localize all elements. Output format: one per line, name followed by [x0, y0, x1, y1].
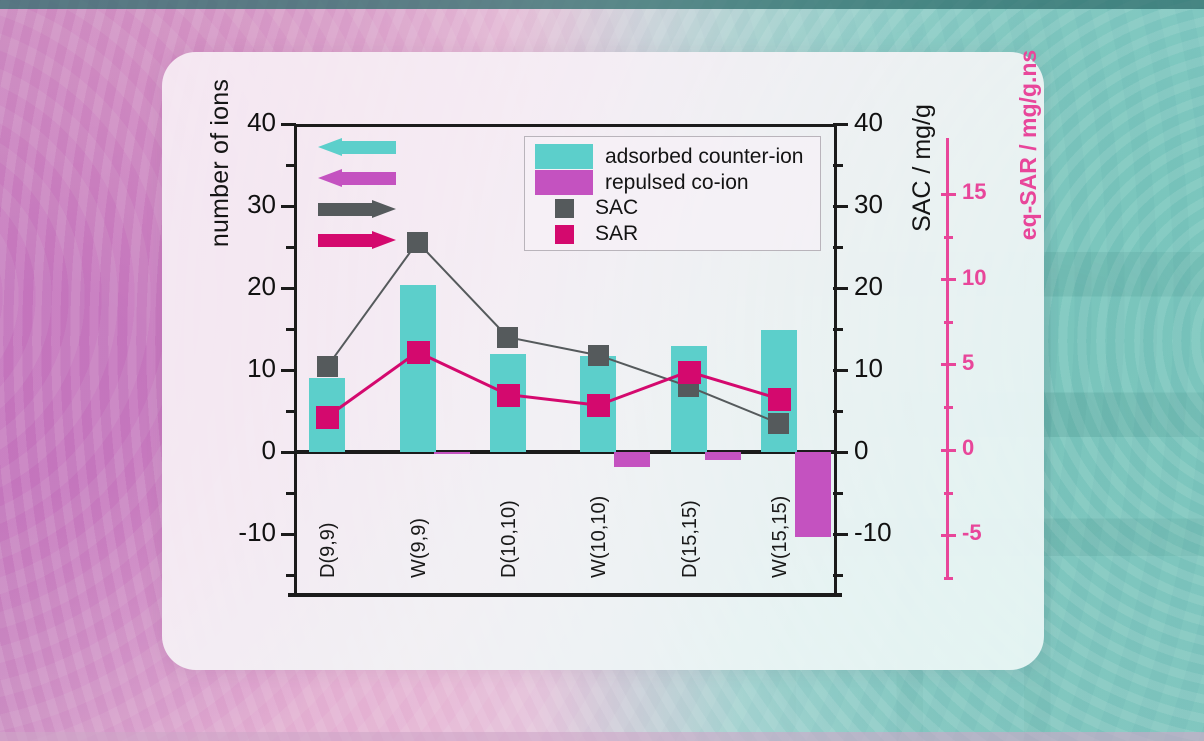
legend-item-label: SAC	[595, 196, 638, 220]
y-tick-major-right2	[941, 363, 956, 366]
y-tick-major-right1	[833, 451, 848, 454]
legend-item-label: SAR	[595, 222, 638, 246]
arrow-head	[318, 138, 342, 156]
arrow-counter-ion-arrow	[318, 138, 396, 156]
y-tick-minor-left	[286, 164, 296, 167]
y-tick-label-left: 0	[194, 435, 276, 466]
y-tick-major-left	[281, 451, 296, 454]
legend-swatch-marker	[555, 199, 574, 218]
x-axis-category-label: D(15,15)	[679, 500, 702, 578]
x-axis-category-label: W(10,10)	[588, 496, 611, 578]
y-tick-label-right1: 20	[854, 271, 934, 302]
legend-item[interactable]: SAR	[535, 222, 638, 246]
x-axis-category-label: W(15,15)	[769, 496, 792, 578]
y-tick-minor-right1	[833, 246, 843, 249]
arrow-shaft	[318, 234, 374, 247]
y-tick-minor-left	[286, 246, 296, 249]
marker-sar	[407, 341, 430, 364]
arrow-shaft	[340, 172, 396, 185]
x-axis-category-label: D(9,9)	[317, 522, 340, 578]
y-tick-label-right2: -5	[962, 520, 1022, 546]
arrow-head	[372, 231, 396, 249]
x-axis-category-label: W(9,9)	[408, 518, 431, 578]
y-tick-major-right1	[833, 369, 848, 372]
y-tick-minor-right1	[833, 410, 843, 413]
y-axis-title-right1: SAC / mg/g	[908, 68, 937, 268]
marker-sac	[407, 232, 428, 253]
y-tick-label-right2: 15	[962, 179, 1022, 205]
y-tick-minor-right1	[833, 328, 843, 331]
y-tick-major-left	[281, 533, 296, 536]
bar-co-ion	[614, 452, 650, 467]
y-tick-major-left	[281, 123, 296, 126]
arrow-head	[318, 169, 342, 187]
arrow-sac-arrow	[318, 200, 396, 218]
y-tick-label-left: -10	[194, 517, 276, 548]
y-tick-label-right2: 0	[962, 435, 1022, 461]
arrow-sar-arrow	[318, 231, 396, 249]
y-tick-minor-left	[286, 328, 296, 331]
arrow-shaft	[340, 141, 396, 154]
marker-sar	[497, 384, 520, 407]
legend-item[interactable]: SAC	[535, 196, 638, 220]
y-tick-minor-right2	[944, 406, 953, 409]
y-tick-major-right2	[941, 534, 956, 537]
plot-frame-right	[834, 124, 837, 593]
marker-sar	[587, 394, 610, 417]
plot-frame-top	[294, 124, 836, 127]
plot-frame-left	[294, 124, 297, 593]
plot-frame-bottom	[288, 593, 842, 597]
legend-item[interactable]: adsorbed counter-ion	[535, 144, 803, 169]
marker-sac	[588, 345, 609, 366]
bar-co-ion	[795, 452, 831, 537]
y-tick-major-left	[281, 205, 296, 208]
y-tick-major-left	[281, 369, 296, 372]
y-tick-minor-left	[286, 492, 296, 495]
y-tick-label-right1: 10	[854, 353, 934, 384]
chart-plot-area: 403020100-10403020100-10151050-5number o…	[0, 0, 1204, 741]
y-tick-label-right1: 0	[854, 435, 934, 466]
bar-counter-ion	[400, 285, 436, 452]
y-tick-minor-right1	[833, 574, 843, 577]
y-tick-minor-right2	[944, 236, 953, 239]
y-tick-major-right2	[941, 193, 956, 196]
legend-item-label: repulsed co-ion	[605, 171, 749, 195]
marker-sar	[768, 388, 791, 411]
y-tick-minor-right2	[944, 321, 953, 324]
y-tick-minor-right2	[944, 577, 953, 580]
y-tick-major-right1	[833, 123, 848, 126]
y-tick-major-right1	[833, 287, 848, 290]
marker-sac	[317, 356, 338, 377]
y-tick-label-right1: -10	[854, 517, 934, 548]
legend-item[interactable]: repulsed co-ion	[535, 170, 749, 195]
chart-legend: adsorbed counter-ionrepulsed co-ionSACSA…	[524, 136, 821, 251]
bar-co-ion	[434, 452, 470, 454]
zero-baseline	[294, 450, 836, 454]
legend-item-label: adsorbed counter-ion	[605, 145, 803, 169]
legend-swatch-bar	[535, 144, 593, 169]
marker-sar	[678, 361, 701, 384]
bar-co-ion	[705, 452, 741, 460]
y-tick-minor-left	[286, 574, 296, 577]
y-tick-major-right2	[941, 278, 956, 281]
y-tick-minor-right1	[833, 164, 843, 167]
arrow-shaft	[318, 203, 374, 216]
y-tick-label-right2: 10	[962, 265, 1022, 291]
y-tick-minor-left	[286, 410, 296, 413]
arrow-co-ion-arrow	[318, 169, 396, 187]
marker-sar	[316, 406, 339, 429]
legend-swatch-bar	[535, 170, 593, 195]
y-tick-major-right1	[833, 205, 848, 208]
y-axis-title-left: number of ions	[206, 58, 235, 268]
y-axis-title-right2: eq-SAR / mg/g.ns	[1015, 20, 1042, 270]
y-tick-label-left: 10	[194, 353, 276, 384]
y-tick-label-left: 20	[194, 271, 276, 302]
marker-sac	[768, 413, 789, 434]
y-tick-major-right1	[833, 533, 848, 536]
legend-swatch-marker	[555, 225, 574, 244]
y-tick-major-right2	[941, 449, 956, 452]
arrow-head	[372, 200, 396, 218]
y-tick-minor-right2	[944, 492, 953, 495]
sar-axis-spine	[946, 138, 949, 578]
y-tick-label-right2: 5	[962, 350, 1022, 376]
y-tick-minor-right1	[833, 492, 843, 495]
x-axis-category-label: D(10,10)	[498, 500, 521, 578]
marker-sac	[497, 327, 518, 348]
y-tick-major-left	[281, 287, 296, 290]
